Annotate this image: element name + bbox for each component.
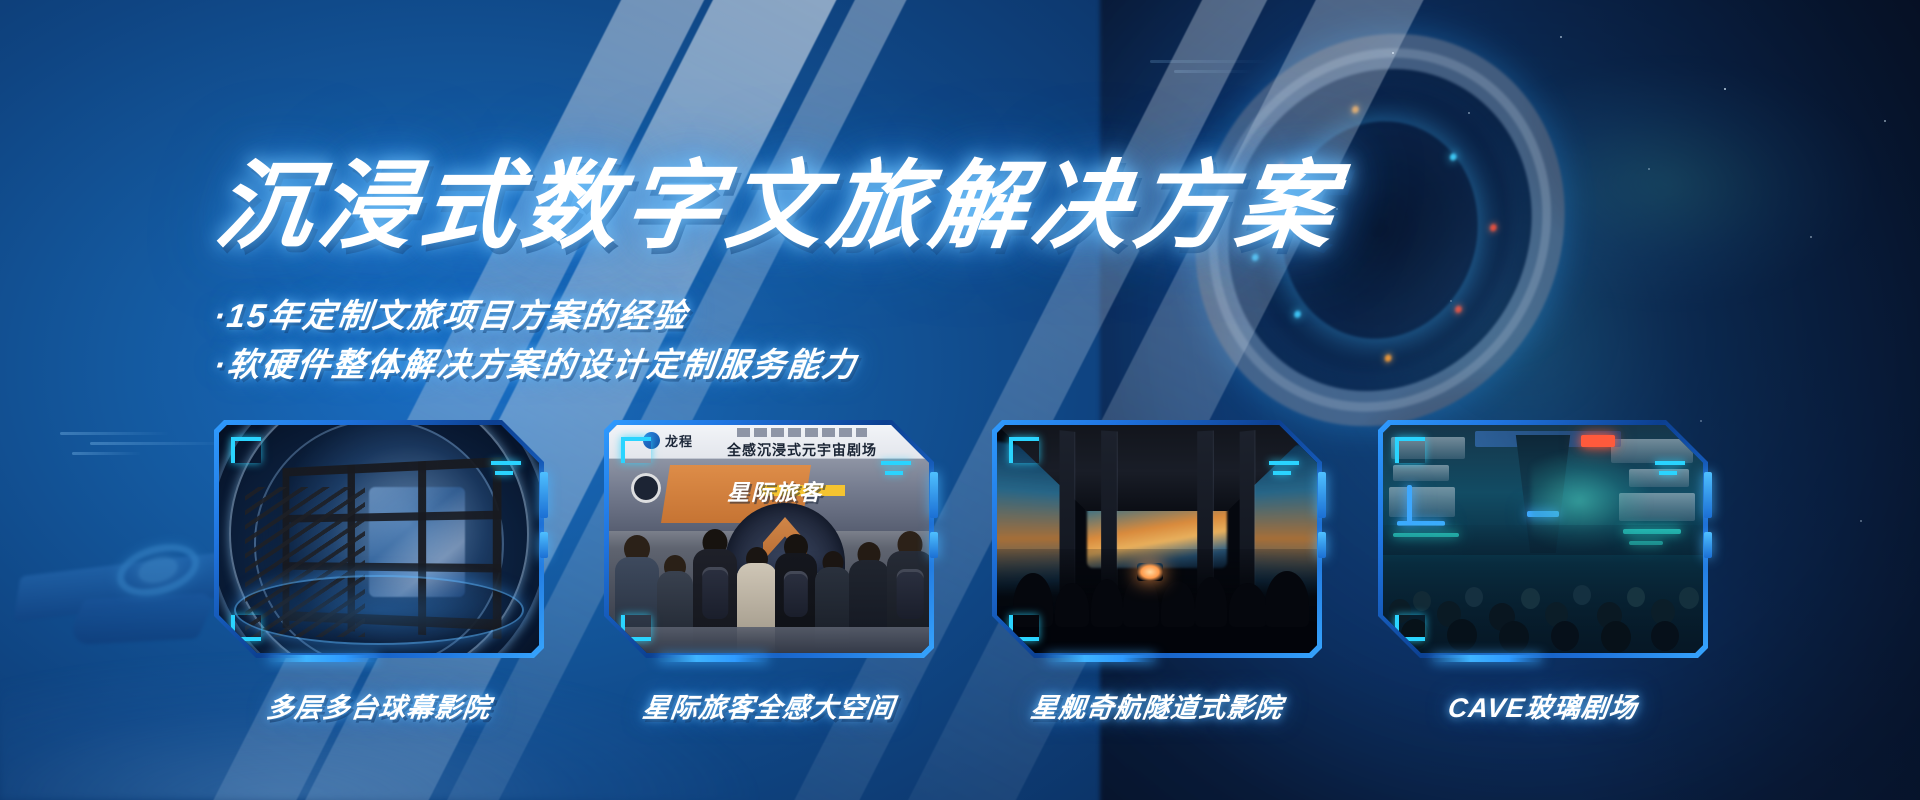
tick-accent <box>1269 461 1299 465</box>
card-caption-tunnel-theater: 星舰奇航隧道式影院 <box>975 686 1340 725</box>
tick-accent <box>881 461 911 465</box>
page-title: 沉浸式数字文旅解决方案 <box>209 128 1348 267</box>
subtitle-list: ·15年定制文旅项目方案的经验 ·软硬件整体解决方案的设计定制服务能力 <box>214 292 857 390</box>
card-caption-cave-theater: CAVE玻璃剧场 <box>1361 686 1726 725</box>
feature-card-cave-theater[interactable] <box>1378 420 1708 658</box>
frame-notch-accent <box>540 532 548 558</box>
corner-bracket-icon <box>231 437 261 463</box>
frame-notch-accent <box>930 472 938 518</box>
card-caption-expo-booth: 星际旅客全感大空间 <box>587 686 952 725</box>
frame-notch-accent <box>540 472 548 518</box>
tick-accent <box>1273 471 1291 475</box>
feature-card-expo-booth[interactable]: 龙程 全感沉浸式元宇宙剧场 星际旅客 <box>604 420 934 658</box>
frame-notch-accent <box>1318 532 1326 558</box>
tick-accent <box>1655 461 1685 465</box>
promo-banner: 沉浸式数字文旅解决方案 ·15年定制文旅项目方案的经验 ·软硬件整体解决方案的设… <box>0 0 1920 800</box>
card-image-expo-booth: 龙程 全感沉浸式元宇宙剧场 星际旅客 <box>609 425 929 653</box>
booth-brand-label: 龙程 <box>665 431 693 450</box>
card-caption-dome-theater: 多层多台球幕影院 <box>197 686 562 725</box>
tick-accent <box>495 471 513 475</box>
card-frame-inner <box>1383 425 1703 653</box>
frame-notch-accent <box>1704 532 1712 558</box>
subtitle-line-2: ·软硬件整体解决方案的设计定制服务能力 <box>211 341 860 390</box>
card-image-tunnel-theater <box>997 425 1317 653</box>
frame-notch-accent <box>1318 472 1326 518</box>
frame-notch-accent <box>930 532 938 558</box>
card-image-cave-theater <box>1383 425 1703 653</box>
corner-bracket-icon <box>1395 437 1425 463</box>
frame-notch-accent <box>1704 472 1712 518</box>
tick-accent <box>1659 471 1677 475</box>
feature-card-tunnel-theater[interactable] <box>992 420 1322 658</box>
card-frame-inner <box>219 425 539 653</box>
tick-accent <box>491 461 521 465</box>
card-image-dome-theater <box>219 425 539 653</box>
feature-card-dome-theater[interactable] <box>214 420 544 658</box>
feature-card-grid: 龙程 全感沉浸式元宇宙剧场 星际旅客 <box>0 420 1920 720</box>
frame-foot-accent <box>658 655 768 662</box>
booth-headline: 全感沉浸式元宇宙剧场 <box>727 440 877 460</box>
corner-bracket-icon <box>1009 437 1039 463</box>
card-frame-inner <box>997 425 1317 653</box>
frame-foot-accent <box>1432 655 1542 662</box>
tick-accent <box>885 471 903 475</box>
subtitle-line-1: ·15年定制文旅项目方案的经验 <box>211 292 860 341</box>
banner-content: 沉浸式数字文旅解决方案 ·15年定制文旅项目方案的经验 ·软硬件整体解决方案的设… <box>0 0 1920 800</box>
frame-foot-accent <box>1046 655 1156 662</box>
card-frame-inner: 龙程 全感沉浸式元宇宙剧场 星际旅客 <box>609 425 929 653</box>
corner-bracket-icon <box>621 437 651 463</box>
frame-foot-accent <box>268 655 378 662</box>
